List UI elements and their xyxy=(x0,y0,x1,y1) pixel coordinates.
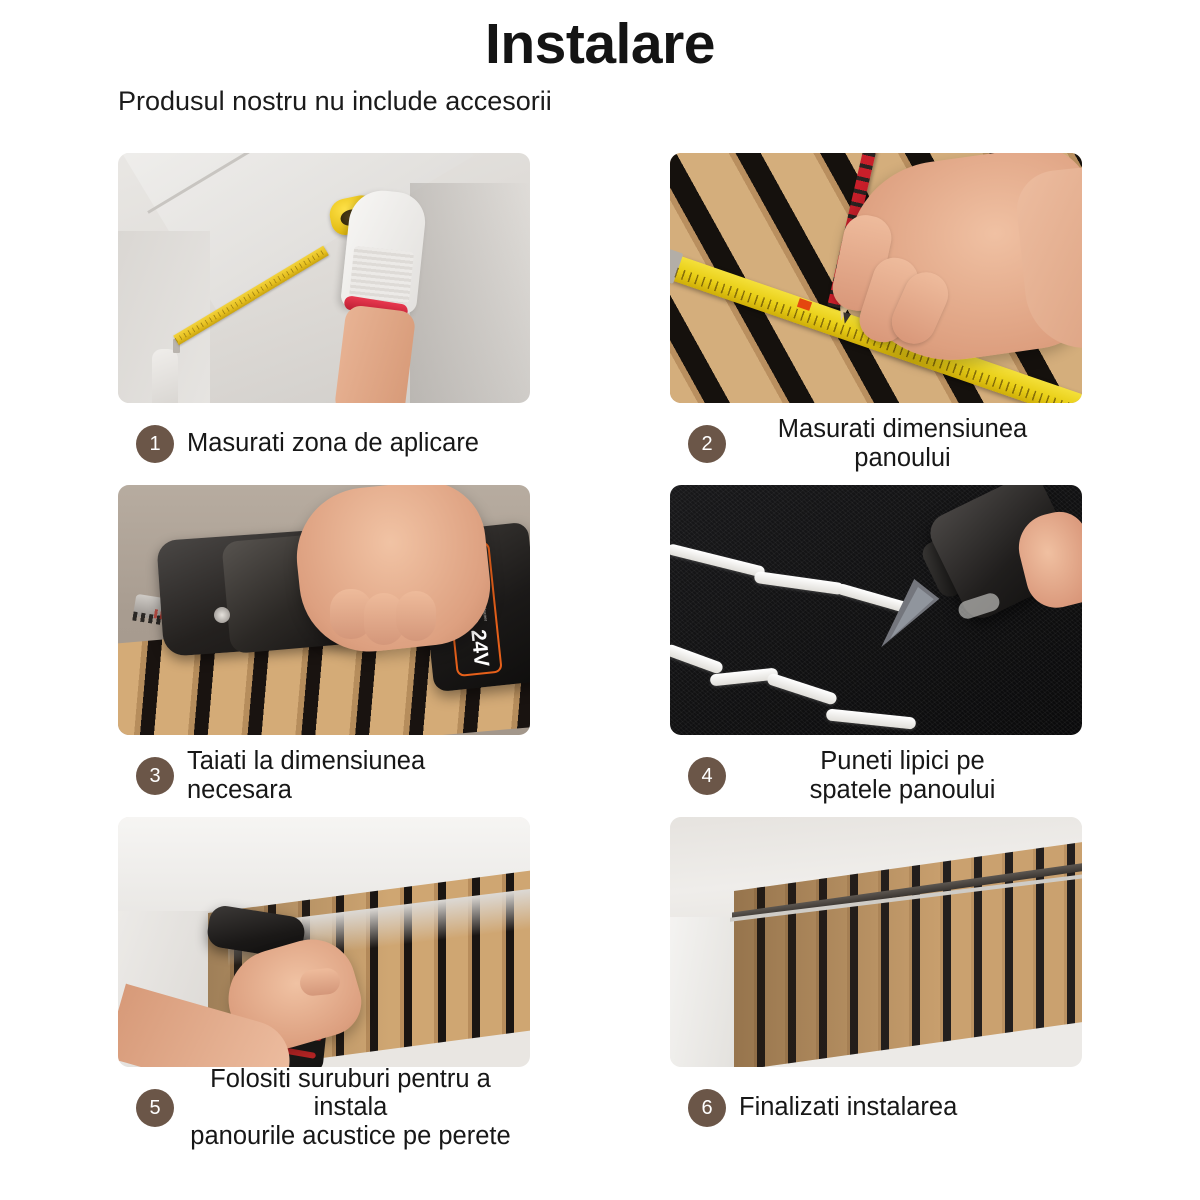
step-photo-1 xyxy=(118,153,530,403)
page-subtitle: Produsul nostru nu include accesorii xyxy=(118,86,1200,117)
step-photo-5 xyxy=(118,817,530,1067)
step-card-1: 1 Masurati zona de aplicare xyxy=(118,153,530,485)
step-caption-2: 2 Masurati dimensiunea panoului xyxy=(670,403,1082,485)
step-card-2: 2 Masurati dimensiunea panoului xyxy=(670,153,1082,485)
step-label-line1: Masurati dimensiunea xyxy=(739,415,1066,444)
step-label: Masurati dimensiunea panoului xyxy=(739,415,1082,472)
step-number-badge: 3 xyxy=(136,757,174,795)
step-label: Taiati la dimensiunea necesara xyxy=(187,747,530,804)
step-label-line1: Puneti lipici pe xyxy=(739,747,1066,776)
step-card-4: 4 Puneti lipici pe spatele panoului xyxy=(670,485,1082,817)
tape-end-clip xyxy=(152,349,178,403)
step-card-5: 5 Folositi suruburi pentru a instala pan… xyxy=(118,817,530,1149)
forearm xyxy=(334,304,417,403)
step-number-badge: 2 xyxy=(688,425,726,463)
installation-guide-page: Instalare Produsul nostru nu include acc… xyxy=(0,0,1200,1200)
bar-tension-bolt xyxy=(214,607,230,623)
step-number-badge: 6 xyxy=(688,1089,726,1127)
step-caption-1: 1 Masurati zona de aplicare xyxy=(118,403,530,485)
step-caption-4: 4 Puneti lipici pe spatele panoului xyxy=(670,735,1082,817)
battery-voltage-text: 24V xyxy=(465,628,493,668)
step-card-3: F.EASY·D Professional electric cleaner 2… xyxy=(118,485,530,817)
side-wall xyxy=(670,917,742,1067)
wall-shadow xyxy=(410,183,530,403)
steps-grid: 1 Masurati zona de aplicare 2 xyxy=(118,153,1082,1149)
step-card-6: 6 Finalizati instalarea xyxy=(670,817,1082,1149)
step-photo-2 xyxy=(670,153,1082,403)
step-label-line1: Folositi suruburi pentru a instala xyxy=(187,1065,514,1122)
work-glove xyxy=(340,187,428,314)
step-label: Folositi suruburi pentru a instala panou… xyxy=(187,1065,530,1151)
step-number-badge: 1 xyxy=(136,425,174,463)
step-label: Finalizati instalarea xyxy=(739,1093,957,1122)
step-number-badge: 5 xyxy=(136,1089,174,1127)
step-label: Masurati zona de aplicare xyxy=(187,429,479,458)
step-caption-6: 6 Finalizati instalarea xyxy=(670,1067,1082,1149)
step-caption-3: 3 Taiati la dimensiunea necesara xyxy=(118,735,530,817)
step-label-line2: spatele panoului xyxy=(739,776,1066,805)
step-label: Puneti lipici pe spatele panoului xyxy=(739,747,1082,804)
step-photo-6 xyxy=(670,817,1082,1067)
step-label-line2: panoului xyxy=(739,444,1066,473)
page-title: Instalare xyxy=(0,0,1200,78)
step-number-badge: 4 xyxy=(688,757,726,795)
finger xyxy=(396,591,436,641)
step-caption-5: 5 Folositi suruburi pentru a instala pan… xyxy=(118,1067,530,1149)
step-photo-4 xyxy=(670,485,1082,735)
step-photo-3: F.EASY·D Professional electric cleaner 2… xyxy=(118,485,530,735)
step-label-line2: panourile acustice pe perete xyxy=(187,1122,514,1151)
